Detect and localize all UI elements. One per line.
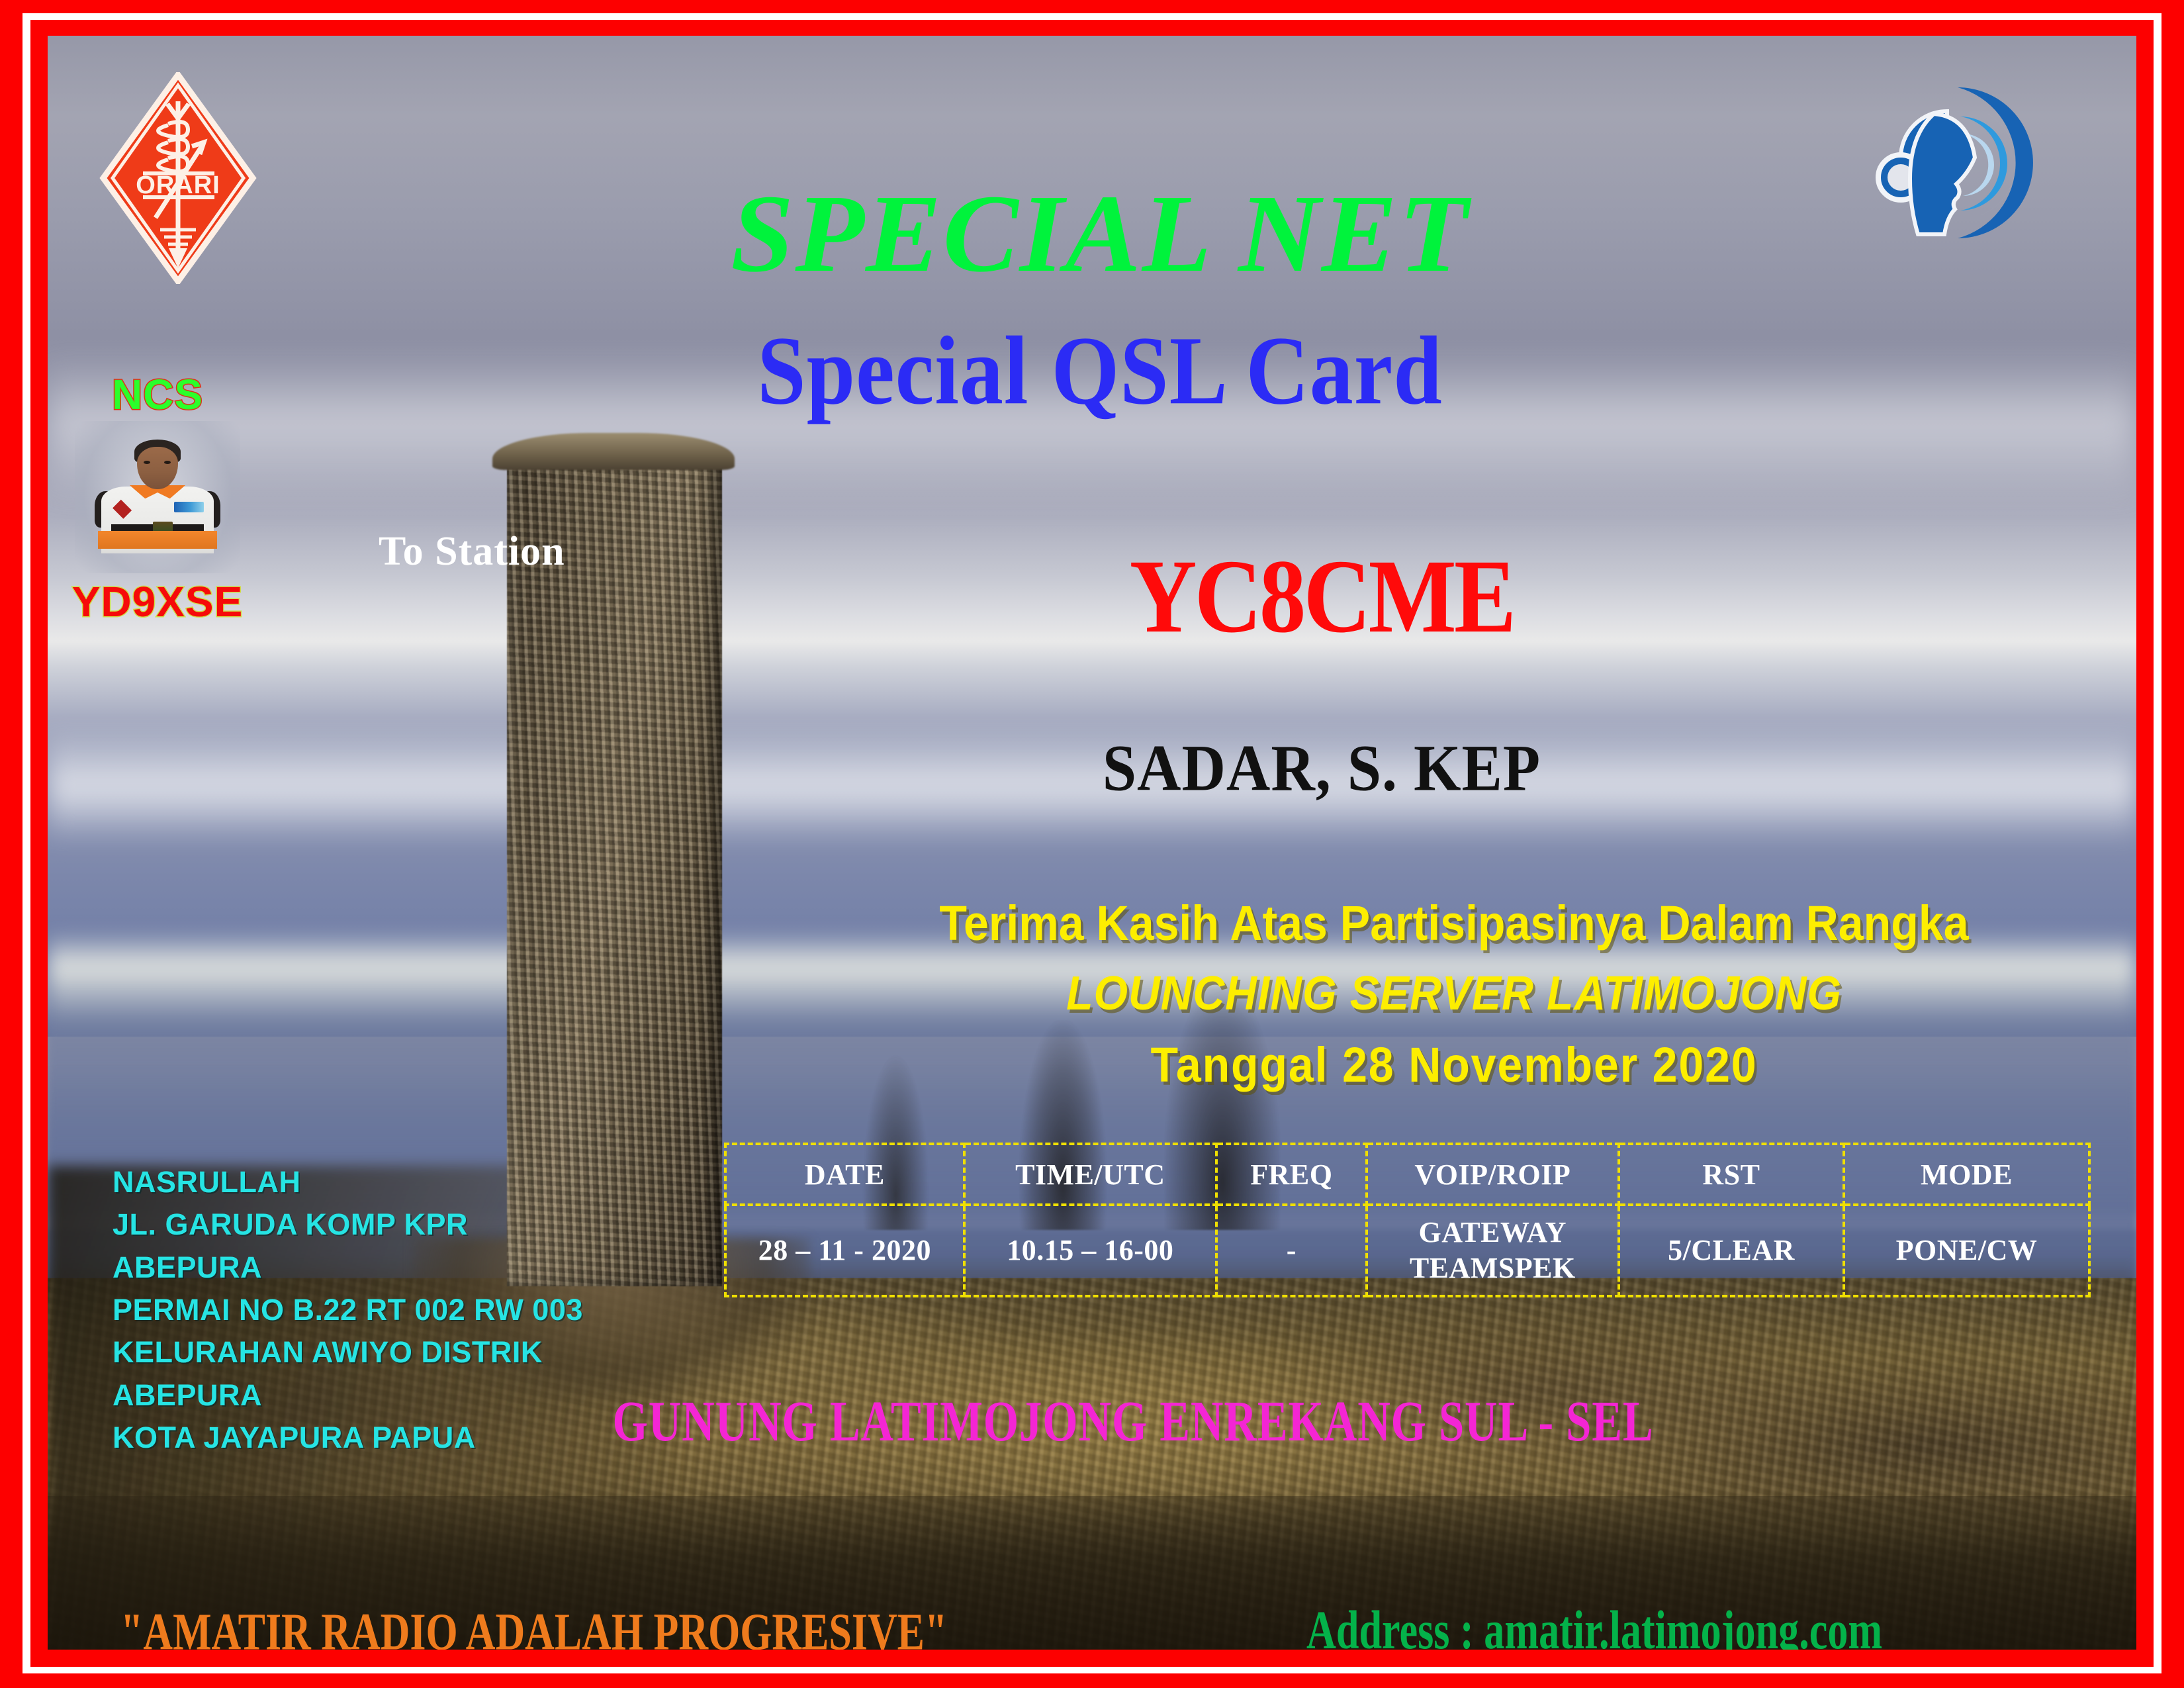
footer-web-address: Address : amatir.latimojong.com (1306, 1599, 1882, 1650)
photo-eye-left (144, 461, 150, 464)
table-header-row: DATE TIME/UTC FREQ VOIP/ROIP RST MODE (725, 1144, 2089, 1205)
table-header-rst: RST (1619, 1144, 1844, 1205)
orari-logo: ORARI (99, 72, 257, 284)
photo-face (137, 447, 179, 489)
cell-mode: PONE/CW (1844, 1205, 2089, 1296)
table-header-freq: FREQ (1216, 1144, 1367, 1205)
monument-cap (492, 433, 735, 470)
headset-profile-logo (1860, 77, 2058, 249)
event-location-line: GUNUNG LATIMOJONG ENREKANG SUL - SEL (551, 1388, 1715, 1455)
event-title-line: LOUNCHING SERVER LATIMOJONG (860, 966, 2048, 1021)
table-header-date: DATE (725, 1144, 964, 1205)
cell-voip: GATEWAY TEAMSPEK (1367, 1205, 1619, 1296)
cell-freq: - (1216, 1205, 1367, 1296)
qso-details-table: DATE TIME/UTC FREQ VOIP/ROIP RST MODE 28… (724, 1143, 2091, 1297)
table-header-mode: MODE (1844, 1144, 2089, 1205)
card-photo-background: ORARI (48, 36, 2136, 1650)
card-white-frame: ORARI (23, 13, 2161, 1673)
event-thanks-line: Terima Kasih Atas Partisipasinya Dalam R… (860, 895, 2048, 951)
qsl-card: ORARI (0, 0, 2184, 1688)
address-line: ABEPURA (113, 1246, 655, 1289)
ncs-operator-photo (75, 421, 240, 573)
card-title-primary: SPECIAL NET (459, 178, 1741, 289)
recipient-callsign: YC8CME (933, 544, 1711, 649)
cell-time: 10.15 – 16-00 (964, 1205, 1216, 1296)
photo-eye-right (164, 461, 171, 464)
ncs-callsign-label: YD9XSE (71, 577, 244, 626)
table-header-time: TIME/UTC (964, 1144, 1216, 1205)
address-line: JL. GARUDA KOMP KPR (113, 1203, 655, 1246)
recipient-operator-name: SADAR, S. KEP (908, 735, 1735, 800)
ncs-role-label: NCS (71, 373, 244, 416)
address-line: NASRULLAH (113, 1161, 655, 1203)
to-station-label: To Station (379, 528, 565, 575)
card-inner-red-frame: ORARI (30, 20, 2154, 1667)
table-header-voip: VOIP/ROIP (1367, 1144, 1619, 1205)
cell-date: 28 – 11 - 2020 (725, 1205, 964, 1296)
event-date-line: Tanggal 28 November 2020 (860, 1037, 2048, 1093)
footer-motto: "AMATIR RADIO ADALAH PROGRESIVE" (120, 1602, 947, 1650)
ncs-operator-block: NCS (71, 373, 244, 626)
photo-orange-sash (98, 531, 217, 549)
cell-rst: 5/CLEAR (1619, 1205, 1844, 1296)
address-line: KELURAHAN AWIYO DISTRIK (113, 1331, 655, 1374)
photo-chest-badge (174, 502, 204, 512)
orari-logo-text: ORARI (136, 171, 220, 199)
table-row: 28 – 11 - 2020 10.15 – 16-00 - GATEWAY T… (725, 1205, 2089, 1296)
address-line: PERMAI NO B.22 RT 002 RW 003 (113, 1289, 655, 1331)
card-title-secondary: Special QSL Card (471, 322, 1729, 420)
